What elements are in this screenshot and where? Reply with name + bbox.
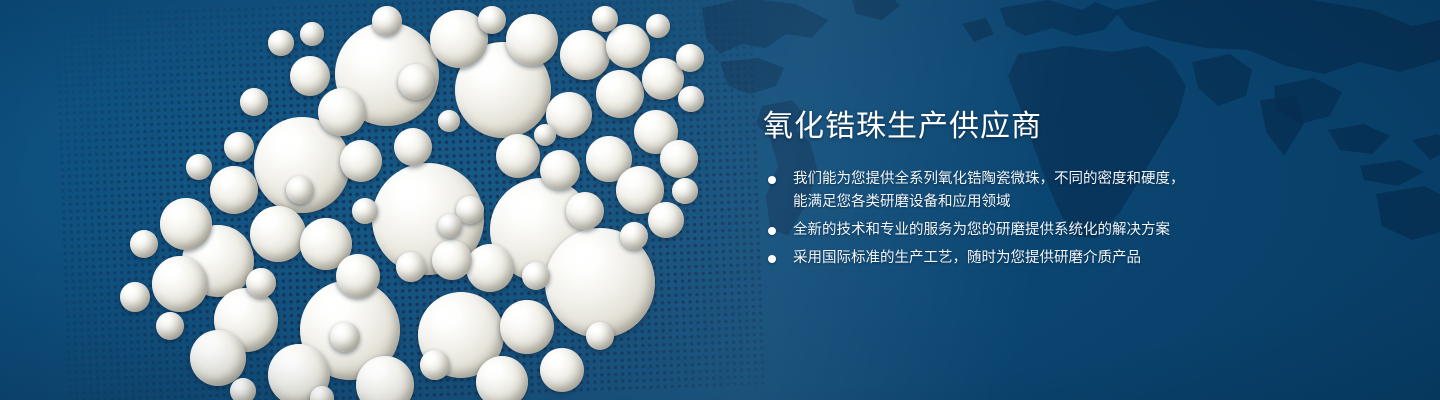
list-item-line: 全新的技术和专业的服务为您的研磨提供系统化的解决方案 — [793, 219, 1233, 242]
list-item-line: 采用国际标准的生产工艺，随时为您提供研磨介质产品 — [793, 247, 1233, 270]
hero-banner: 氧化锆珠生产供应商 我们能为您提供全系列氧化锆陶瓷微珠，不同的密度和硬度， 能满… — [0, 0, 1440, 400]
list-item-line: 能满足您各类研磨设备和应用领域 — [793, 191, 1233, 214]
page-title: 氧化锆珠生产供应商 — [763, 110, 1233, 144]
list-item: 我们能为您提供全系列氧化锆陶瓷微珠，不同的密度和硬度， 能满足您各类研磨设备和应… — [763, 168, 1233, 214]
feature-list: 我们能为您提供全系列氧化锆陶瓷微珠，不同的密度和硬度， 能满足您各类研磨设备和应… — [763, 168, 1233, 270]
bullet-dot-icon — [768, 176, 776, 184]
banner-copy: 氧化锆珠生产供应商 我们能为您提供全系列氧化锆陶瓷微珠，不同的密度和硬度， 能满… — [763, 110, 1233, 275]
list-item: 采用国际标准的生产工艺，随时为您提供研磨介质产品 — [763, 247, 1233, 270]
list-item: 全新的技术和专业的服务为您的研磨提供系统化的解决方案 — [763, 219, 1233, 242]
bullet-dot-icon — [768, 255, 776, 263]
bullet-dot-icon — [768, 227, 776, 235]
list-item-line: 我们能为您提供全系列氧化锆陶瓷微珠，不同的密度和硬度， — [793, 168, 1233, 191]
